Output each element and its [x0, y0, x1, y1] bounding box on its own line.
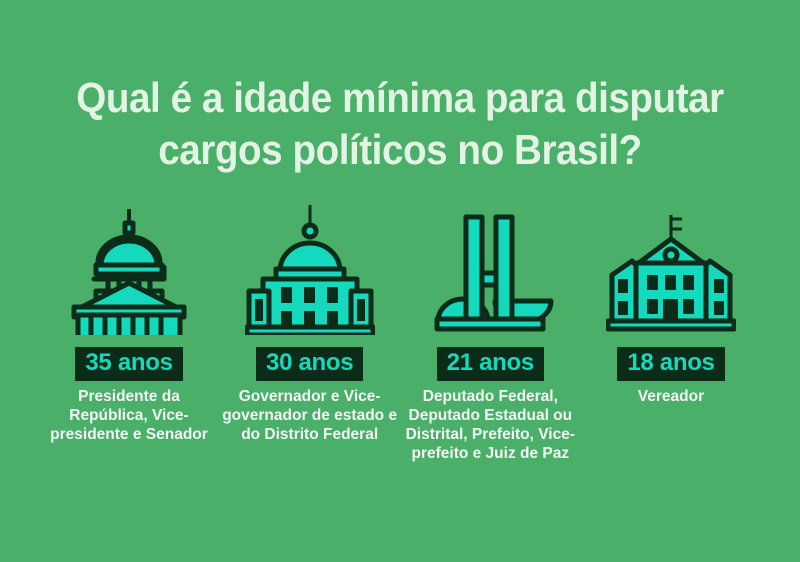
age-badge-30: 30 anos: [256, 347, 363, 381]
national-congress-towers-icon: [425, 205, 555, 335]
age-badge-label: 21 anos: [447, 349, 534, 376]
infographic-canvas: Qual é a idade mínima para disputar carg…: [0, 0, 800, 562]
age-badge-18: 18 anos: [617, 347, 724, 381]
title-line-2: cargos políticos no Brasil?: [69, 124, 731, 176]
age-badge-35: 35 anos: [75, 347, 182, 381]
age-badge-label: 30 anos: [266, 349, 353, 376]
age-badge-21: 21 anos: [437, 347, 544, 381]
government-palace-dome-icon: [245, 205, 375, 335]
capitol-dome-building-icon: [64, 205, 194, 335]
age-group-35: 35 anos Presidente da República, Vice-pr…: [40, 205, 218, 444]
age-group-30: 30 anos Governador e Vice-governador de …: [221, 205, 399, 444]
age-badge-label: 35 anos: [85, 349, 172, 376]
age-group-21: 21 anos Deputado Federal, Deputado Estad…: [401, 205, 579, 463]
age-group-18: 18 anos Vereador: [582, 205, 760, 406]
age-badge-label: 18 anos: [627, 349, 714, 376]
role-description-18: Vereador: [638, 387, 704, 406]
role-description-30: Governador e Vice-governador de estado e…: [222, 387, 398, 444]
title-line-1: Qual é a idade mínima para disputar: [69, 72, 731, 124]
role-description-21: Deputado Federal, Deputado Estadual ou D…: [402, 387, 578, 463]
city-hall-building-icon: [606, 205, 736, 335]
page-title: Qual é a idade mínima para disputar carg…: [0, 72, 800, 176]
role-description-35: Presidente da República, Vice-presidente…: [41, 387, 217, 444]
age-requirement-columns: 35 anos Presidente da República, Vice-pr…: [40, 205, 760, 463]
